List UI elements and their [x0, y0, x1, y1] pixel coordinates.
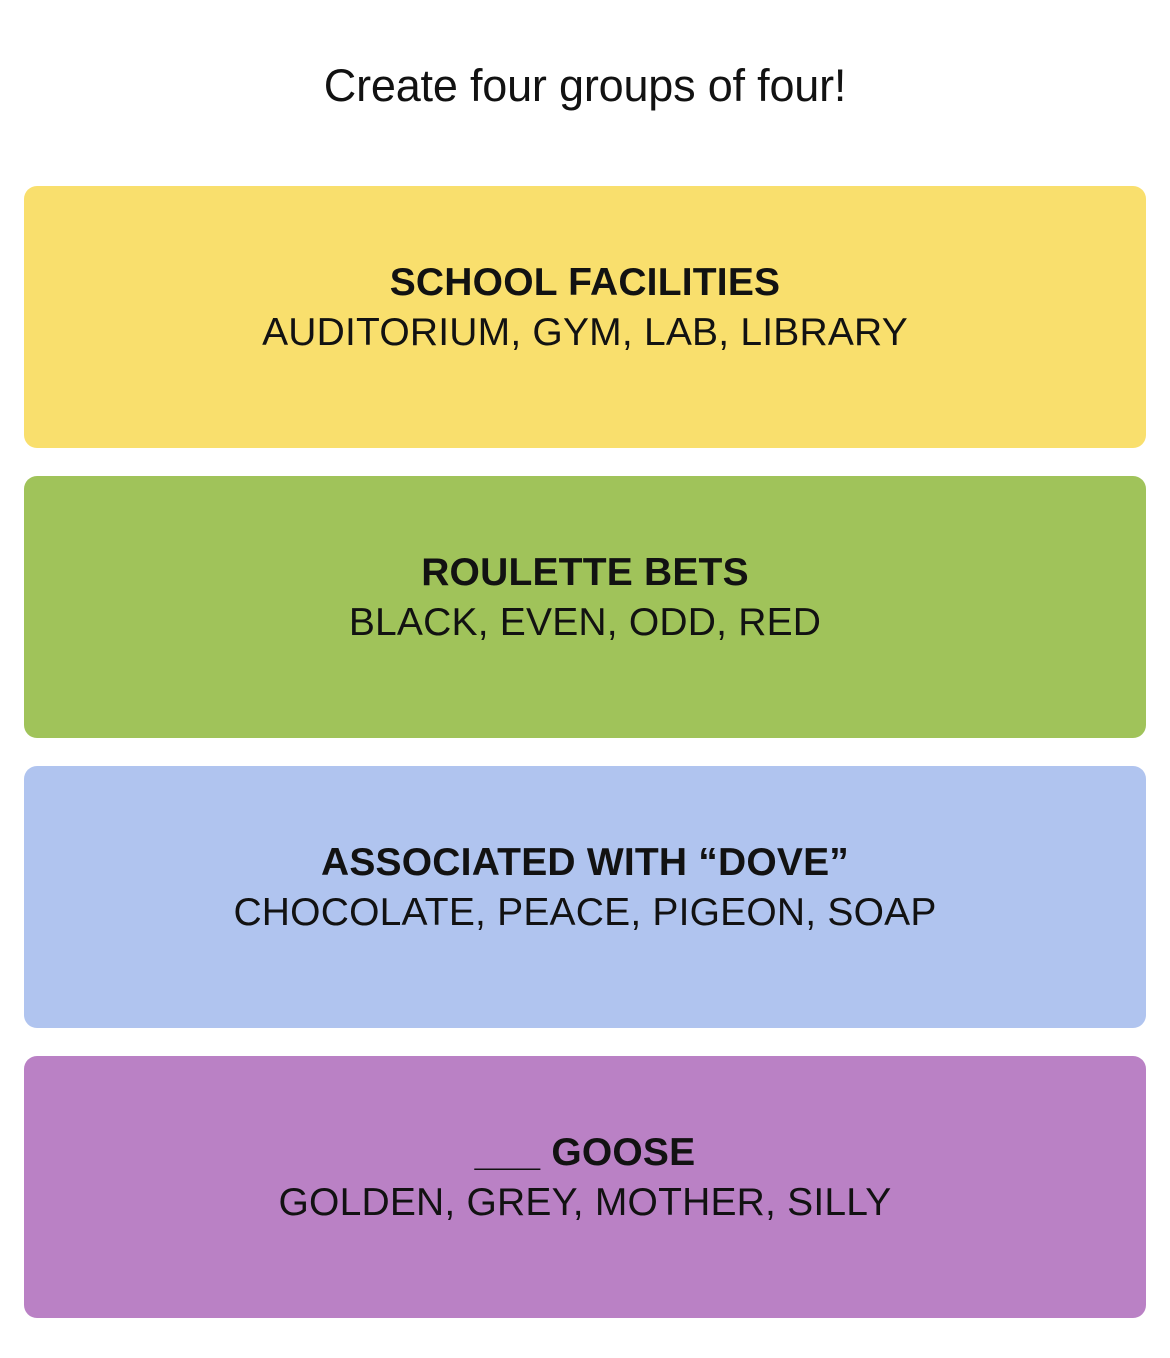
group-members-label: AUDITORIUM, GYM, LAB, LIBRARY	[262, 309, 908, 357]
solved-group-card-purple: ___ GOOSE GOLDEN, GREY, MOTHER, SILLY	[24, 1056, 1146, 1318]
page-title: Create four groups of four!	[0, 58, 1170, 114]
solved-group-card-green: ROULETTE BETS BLACK, EVEN, ODD, RED	[24, 476, 1146, 738]
group-category-label: ASSOCIATED WITH “DOVE”	[321, 839, 849, 887]
connections-solution-page: Create four groups of four! SCHOOL FACIL…	[0, 0, 1170, 1358]
group-category-label: ROULETTE BETS	[421, 549, 749, 597]
solved-group-card-blue: ASSOCIATED WITH “DOVE” CHOCOLATE, PEACE,…	[24, 766, 1146, 1028]
group-members-label: BLACK, EVEN, ODD, RED	[349, 599, 821, 647]
solved-group-card-yellow: SCHOOL FACILITIES AUDITORIUM, GYM, LAB, …	[24, 186, 1146, 448]
group-members-label: CHOCOLATE, PEACE, PIGEON, SOAP	[233, 889, 936, 937]
group-category-label: SCHOOL FACILITIES	[390, 259, 781, 307]
group-category-label: ___ GOOSE	[475, 1129, 696, 1177]
group-members-label: GOLDEN, GREY, MOTHER, SILLY	[279, 1179, 892, 1227]
solved-groups-list: SCHOOL FACILITIES AUDITORIUM, GYM, LAB, …	[24, 186, 1146, 1318]
